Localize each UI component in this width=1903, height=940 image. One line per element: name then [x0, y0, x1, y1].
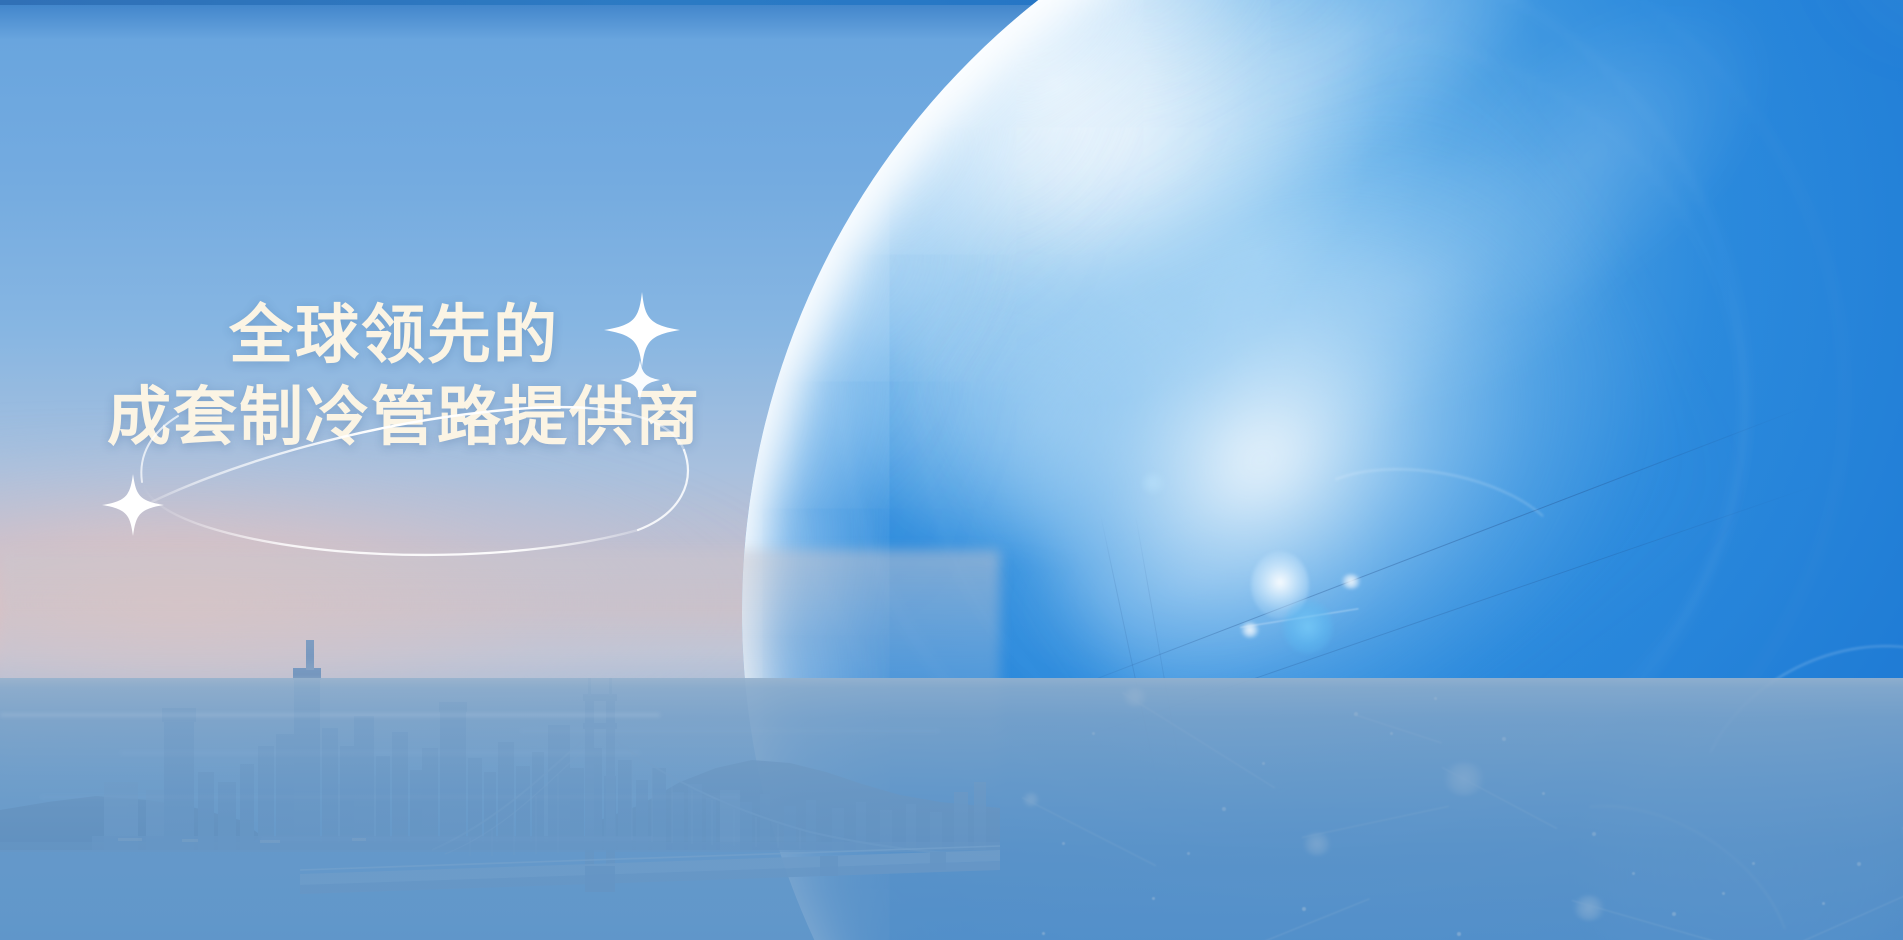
headline-line-2: 成套制冷管路提供商	[107, 382, 867, 452]
headline-block: 全球领先的 成套制冷管路提供商	[107, 300, 867, 452]
headline-line-1: 全球领先的	[229, 300, 867, 370]
harbor-water	[0, 678, 1903, 940]
hero-banner: 全球领先的 成套制冷管路提供商	[0, 0, 1903, 940]
